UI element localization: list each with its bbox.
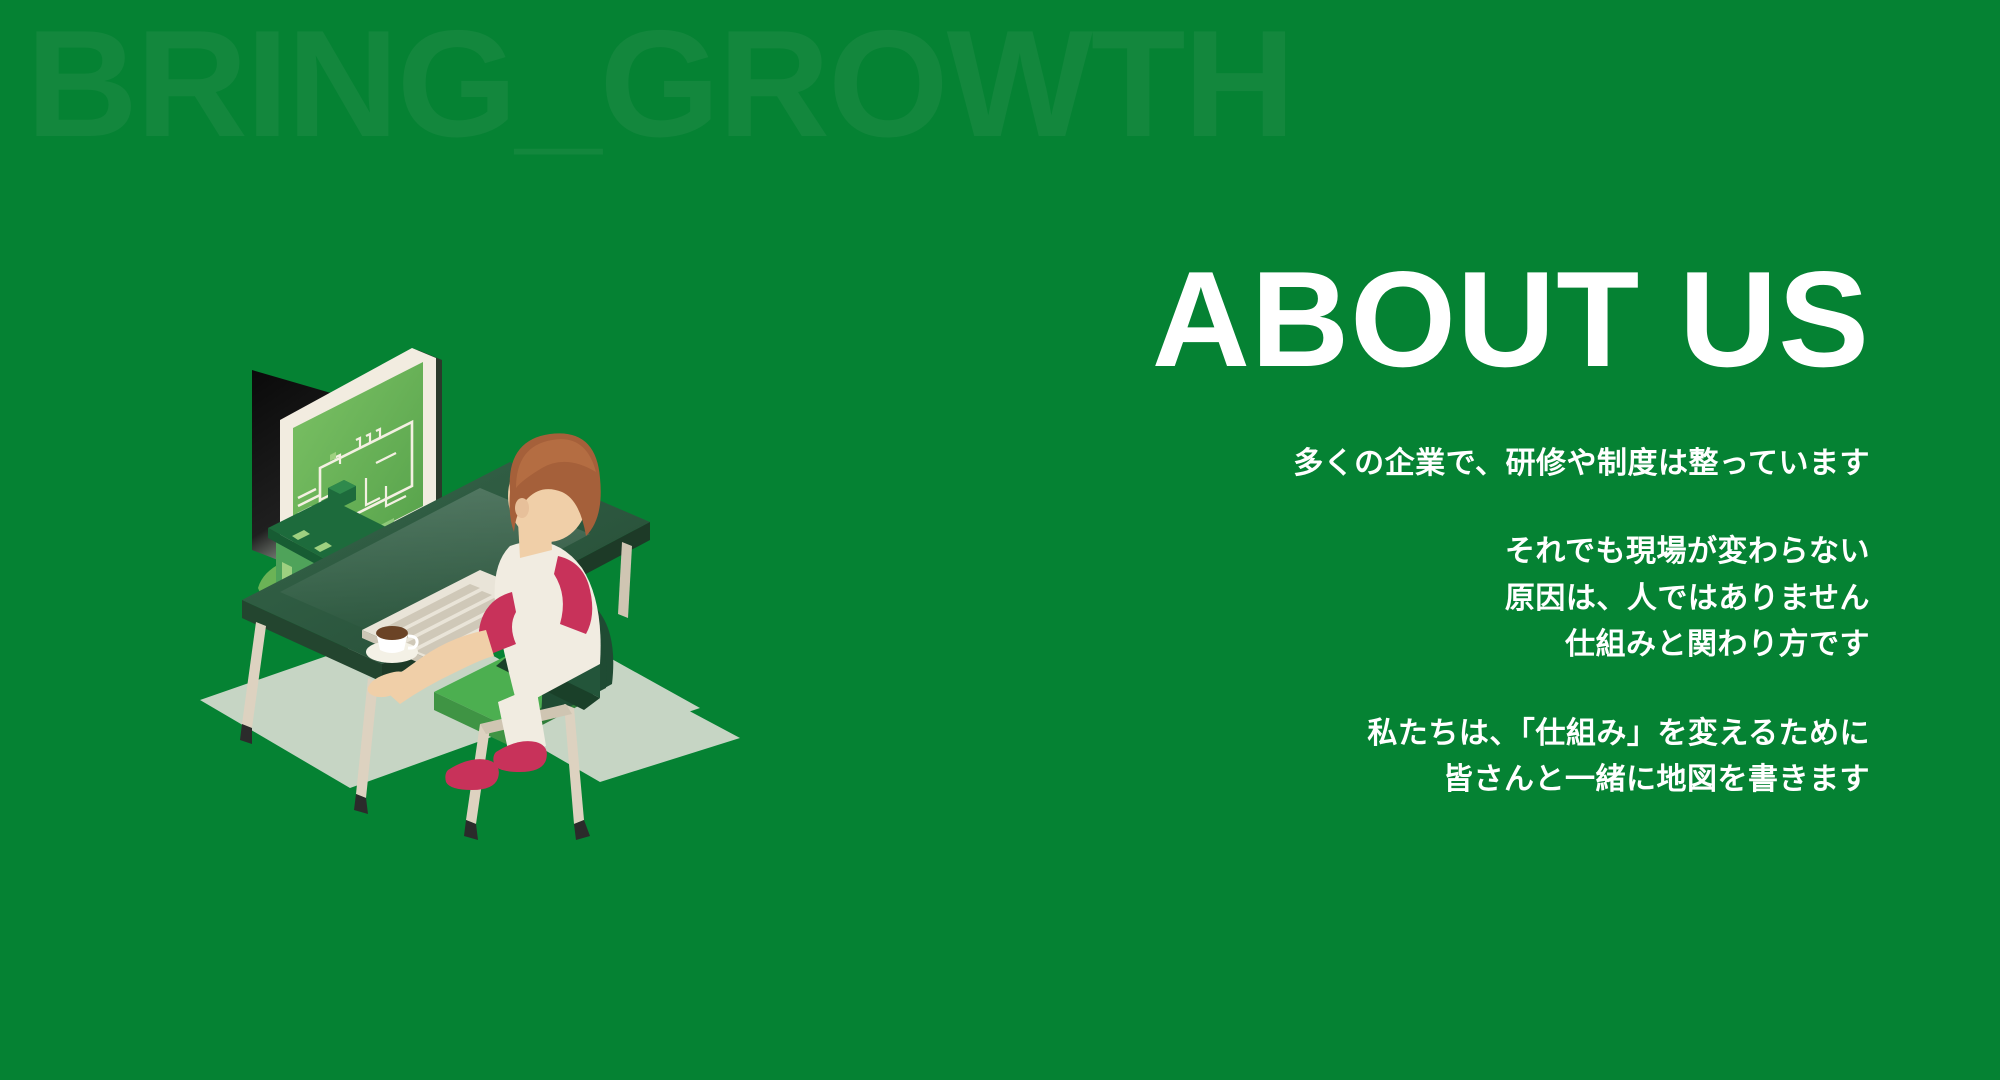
paragraph-2: それでも現場が変わらない 原因は、人ではありません 仕組みと関わり方です	[1010, 529, 1870, 669]
paragraph-3: 私たちは、「仕組み」を変えるために 皆さんと一緒に地図を書きます	[1010, 711, 1870, 804]
hero-illustration	[180, 300, 800, 880]
paragraph-1: 多くの企業で、研修や制度は整っています	[1010, 441, 1870, 488]
copy-line: 仕組みと関わり方です	[1010, 622, 1870, 669]
ear	[515, 498, 529, 518]
slide-root: BRING_GROWTH	[0, 0, 2000, 1080]
copy-line: 私たちは、「仕組み」を変えるために	[1010, 711, 1870, 758]
copy-line: 皆さんと一緒に地図を書きます	[1010, 757, 1870, 804]
copy-column: ABOUT US 多くの企業で、研修や制度は整っています それでも現場が変わらな…	[1010, 250, 1870, 804]
shoe-right	[493, 741, 547, 772]
shoe-left	[445, 759, 499, 790]
page-title: ABOUT US	[1010, 250, 1870, 389]
copy-line: 多くの企業で、研修や制度は整っています	[1010, 441, 1870, 488]
copy-line: それでも現場が変わらない	[1010, 529, 1870, 576]
background-watermark-text: BRING_GROWTH	[26, 8, 1293, 160]
copy-line: 原因は、人ではありません	[1010, 576, 1870, 623]
